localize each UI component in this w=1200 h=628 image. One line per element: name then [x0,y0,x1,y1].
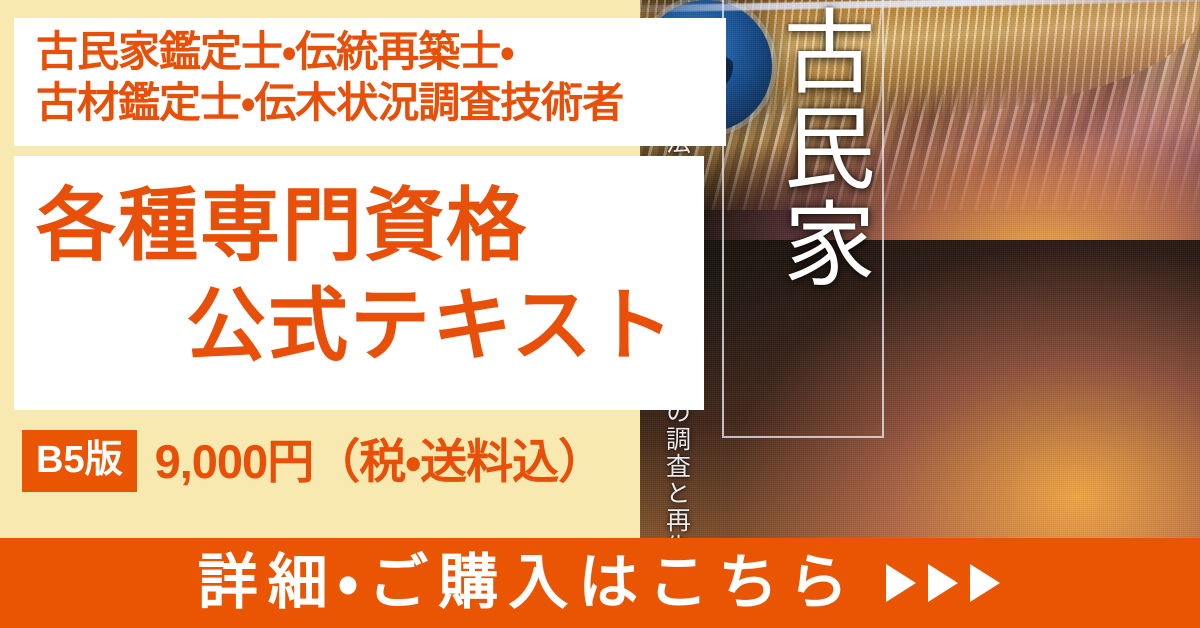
cta-bar[interactable]: 詳細・ご購入はこちら [0,538,1200,628]
triangle-right-icon [884,562,918,604]
price-text: 9,000円（税・送料込） [155,438,605,485]
promo-banner: 伝統構法、古民家活用のための調査と再生の 古民家 古民家鑑定士・伝統再築士・ 古… [0,0,1200,628]
headline-line-1: 古民家鑑定士・伝統再築士・ [36,26,716,77]
triangle-right-icon [968,562,1002,604]
format-badge: B5版 [22,430,137,492]
cta-label: 詳細・ご購入はこちら [198,553,858,613]
headline-line-2: 古材鑑定士・伝木状況調査技術者 [36,77,716,128]
headline-text: 古民家鑑定士・伝統再築士・ 古材鑑定士・伝木状況調査技術者 [36,26,716,128]
title-line-2: 公式テキスト [186,286,676,366]
price-row: B5版 9,000円（税・送料込） [22,429,604,493]
title-line-1: 各種専門資格 [36,186,528,266]
triangle-right-icon [926,562,960,604]
cta-arrows [884,562,1002,604]
cover-title: 古民家 [732,4,870,292]
